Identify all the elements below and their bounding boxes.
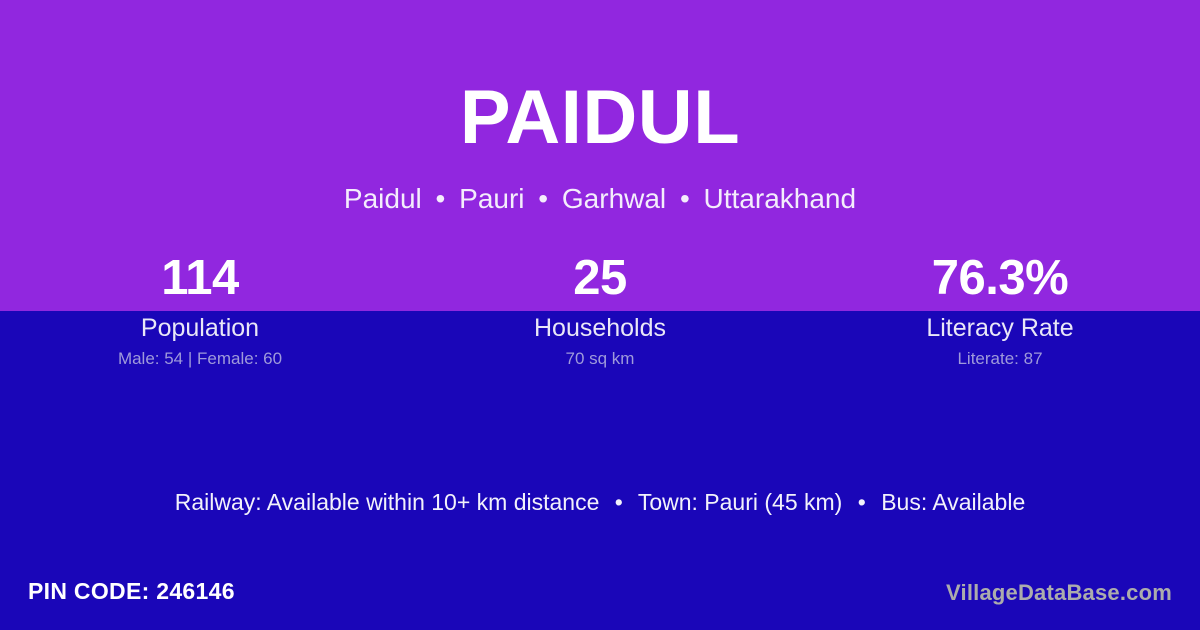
stat-literacy-rate: 76.3% Literacy Rate Literate: 87 bbox=[800, 245, 1200, 373]
breadcrumb-item-village: Paidul bbox=[344, 183, 422, 214]
stat-sublabel: Male: 54 | Female: 60 bbox=[0, 345, 400, 373]
breadcrumb: Paidul • Pauri • Garhwal • Uttarakhand bbox=[0, 182, 1200, 216]
stat-value: 25 bbox=[400, 245, 800, 311]
stat-population: 114 Population Male: 54 | Female: 60 bbox=[0, 245, 400, 373]
infrastructure-line: Railway: Available within 10+ km distanc… bbox=[0, 487, 1200, 517]
breadcrumb-separator: • bbox=[674, 183, 696, 214]
site-watermark: VillageDataBase.com bbox=[946, 578, 1172, 608]
pin-code: PIN CODE: 246146 bbox=[28, 576, 235, 606]
stats-row: 114 Population Male: 54 | Female: 60 25 … bbox=[0, 245, 1200, 373]
stat-label: Population bbox=[0, 311, 400, 345]
stat-value: 114 bbox=[0, 245, 400, 311]
stat-sublabel: 70 sq km bbox=[400, 345, 800, 373]
infrastructure-town: Town: Pauri (45 km) bbox=[638, 489, 843, 515]
breadcrumb-separator: • bbox=[532, 183, 554, 214]
stat-value: 76.3% bbox=[800, 245, 1200, 311]
stat-sublabel: Literate: 87 bbox=[800, 345, 1200, 373]
infrastructure-separator: • bbox=[606, 489, 632, 515]
breadcrumb-item-district: Garhwal bbox=[562, 183, 666, 214]
infrastructure-bus: Bus: Available bbox=[881, 489, 1025, 515]
village-info-card: PAIDUL Paidul • Pauri • Garhwal • Uttara… bbox=[0, 0, 1200, 630]
infrastructure-separator: • bbox=[849, 489, 875, 515]
page-title: PAIDUL bbox=[0, 80, 1200, 156]
stat-households: 25 Households 70 sq km bbox=[400, 245, 800, 373]
breadcrumb-separator: • bbox=[430, 183, 452, 214]
stat-label: Literacy Rate bbox=[800, 311, 1200, 345]
stat-label: Households bbox=[400, 311, 800, 345]
breadcrumb-item-block: Pauri bbox=[459, 183, 524, 214]
breadcrumb-item-state: Uttarakhand bbox=[704, 183, 857, 214]
infrastructure-railway: Railway: Available within 10+ km distanc… bbox=[175, 489, 600, 515]
